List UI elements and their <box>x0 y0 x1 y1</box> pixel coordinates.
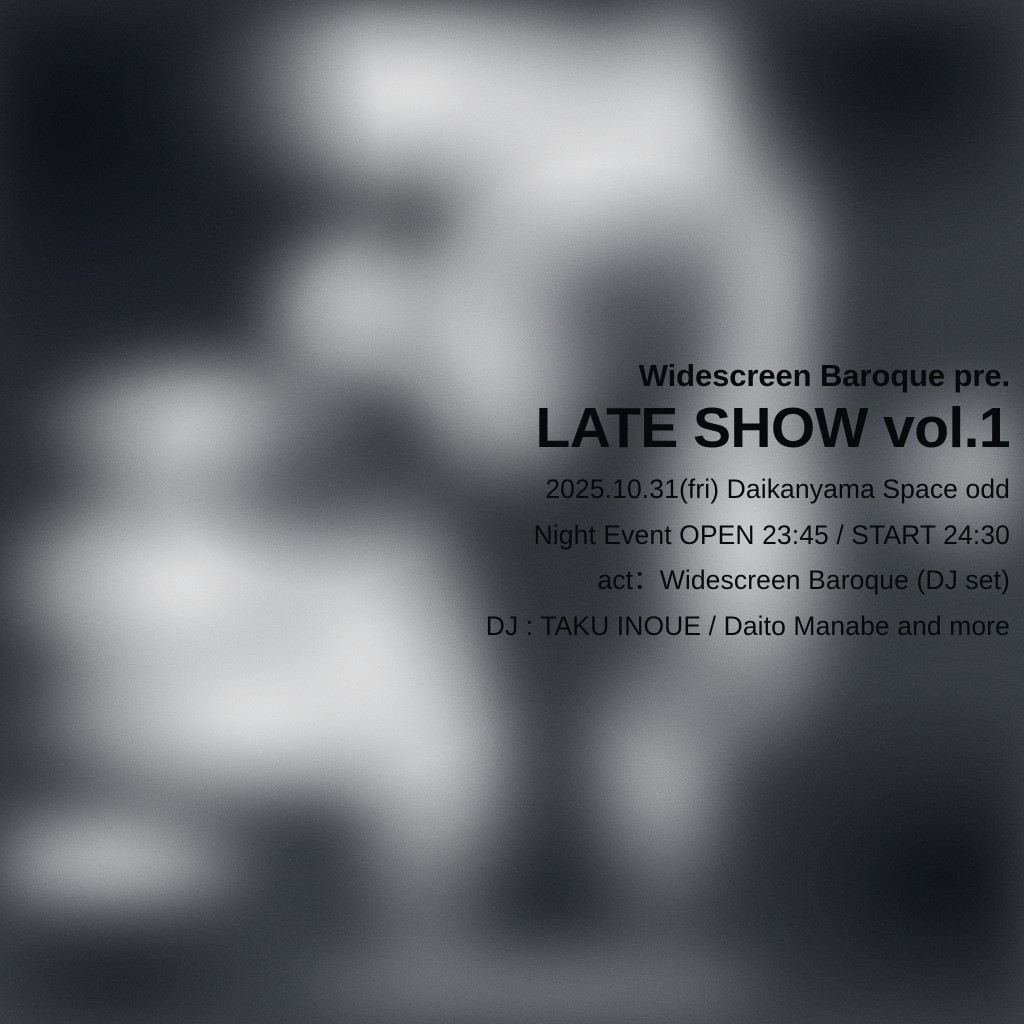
poster-canvas: Widescreen Baroque pre. LATE SHOW vol.1 … <box>0 0 1024 1024</box>
schedule-line: Night Event OPEN 23:45 / START 24:30 <box>250 522 1010 549</box>
event-info-block: Widescreen Baroque pre. LATE SHOW vol.1 … <box>250 360 1010 639</box>
date-venue-line: 2025.10.31(fri) Daikanyama Space odd <box>250 476 1010 503</box>
event-title: LATE SHOW vol.1 <box>250 400 1010 457</box>
presenter-line: Widescreen Baroque pre. <box>250 360 1010 391</box>
dj-lineup-line: DJ : TAKU INOUE / Daito Manabe and more <box>250 613 1010 640</box>
act-line: act：Widescreen Baroque (DJ set) <box>250 567 1010 594</box>
